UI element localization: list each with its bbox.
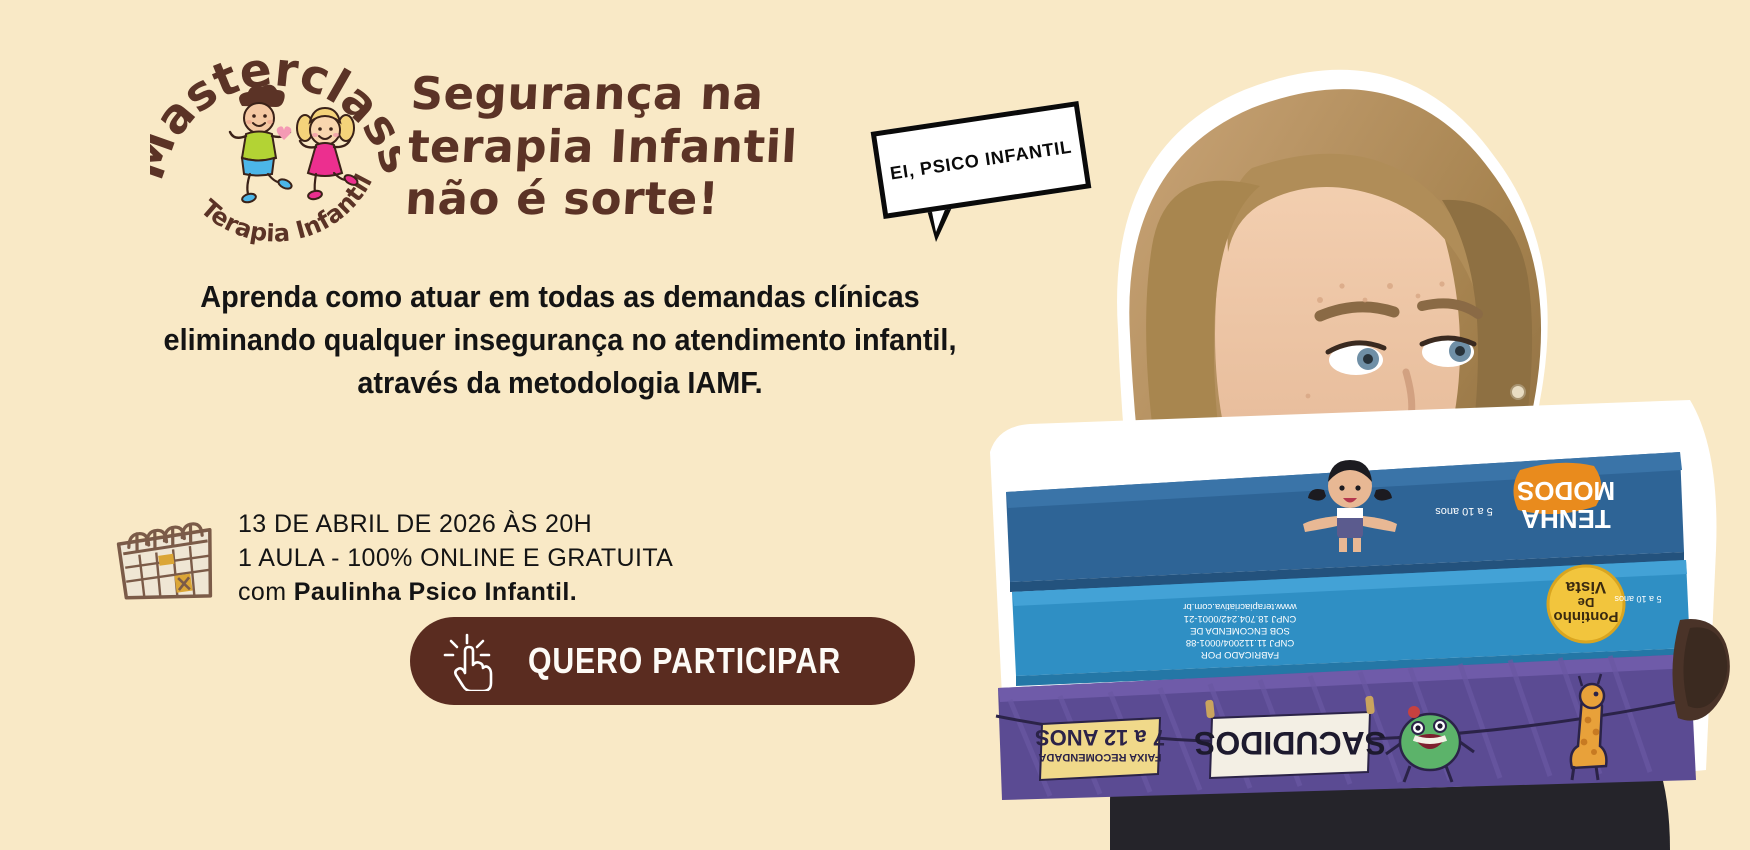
box2-age: 5 a 10 anos: [1614, 594, 1662, 604]
subheadline: Aprenda como atuar em todas as demandas …: [95, 276, 1025, 404]
subheadline-line-1: Aprenda como atuar em todas as demandas …: [95, 276, 1025, 319]
event-format: 1 AULA - 100% ONLINE E GRATUITA: [238, 541, 673, 575]
box2-fine-5: www.terapiacriativa.com.br: [1183, 601, 1298, 612]
presenter-hand: [1672, 619, 1729, 721]
subheadline-line-3: através da metodologia IAMF.: [95, 362, 1025, 405]
box3-title: SACUDIDOS: [1194, 725, 1386, 761]
quero-participar-button[interactable]: QUERO PARTICIPAR: [410, 617, 915, 705]
promo-banner: Masterclass Terapia Infantil: [0, 0, 1750, 850]
box2-fine-3: SOB ENCOMENDA DE: [1190, 625, 1290, 636]
box1-age: 5 a 10 anos: [1435, 505, 1493, 517]
cta-label: QUERO PARTICIPAR: [526, 640, 843, 682]
calendar-icon: [108, 515, 220, 610]
headline-line-2: terapia Infantil: [407, 121, 830, 174]
box1-title-line2: MODOS: [1517, 476, 1615, 506]
event-date: 13 DE ABRIL DE 2026 ÀS 20H: [238, 507, 673, 541]
click-hand-icon: [442, 631, 496, 691]
headline-line-3: não é sorte!: [404, 173, 827, 226]
box2-title-line3: Vista: [1565, 578, 1606, 597]
subheadline-line-2: eliminando qualquer insegurança no atend…: [95, 319, 1025, 362]
box3-age: 7 a 12 ANOS: [1035, 725, 1165, 750]
box3-banner-note: FAIXA RECOMENDADA: [1038, 751, 1161, 763]
box2-fine-1: FABRICADO POR: [1201, 649, 1279, 660]
masterclass-logo: Masterclass Terapia Infantil: [150, 48, 400, 248]
event-text-lines: 13 DE ABRIL DE 2026 ÀS 20H 1 AULA - 100%…: [238, 507, 673, 609]
event-details: 13 DE ABRIL DE 2026 ÀS 20H 1 AULA - 100%…: [108, 455, 673, 610]
logo-arc-text: Masterclass: [150, 48, 400, 187]
event-host-name: Paulinha Psico Infantil.: [294, 578, 577, 606]
presenter-photo: TENHA MODOS 5 a 10 anos: [990, 0, 1750, 850]
event-host-prefix: com: [238, 578, 294, 606]
headline-line-1: Segurança na: [409, 68, 832, 121]
box2-fine-4: CNPJ 18.704.242/0001-21: [1184, 613, 1297, 624]
logo-artwork: Masterclass Terapia Infantil: [150, 48, 400, 248]
headline: Segurança na terapia Infantil não é sort…: [404, 68, 832, 226]
event-host: com Paulinha Psico Infantil.: [238, 575, 673, 609]
box2-fine-2: CNPJ 11.112004/0001-88: [1186, 637, 1294, 648]
box1-title-line1: TENHA: [1521, 504, 1611, 534]
